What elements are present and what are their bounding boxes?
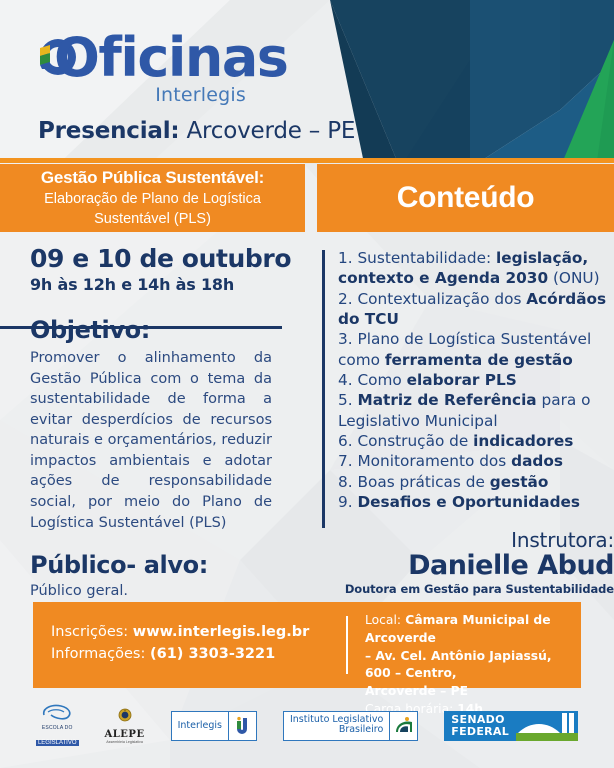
topic-number: 7. [338, 452, 353, 470]
topic-number: 9. [338, 493, 353, 511]
ilb-line2: Brasileiro [290, 725, 383, 735]
course-date: 09 e 10 de outubro [30, 244, 300, 273]
alepe-name: ALEPE [105, 729, 145, 740]
topic-text-tail: (ONU) [548, 269, 599, 287]
topic-emphasis: Matriz de Referência [357, 391, 536, 409]
interlegis-glyph [228, 712, 256, 740]
ilb-glyph [389, 712, 417, 740]
left-column: 09 e 10 de outubro 9h às 12h e 14h às 18… [0, 244, 300, 599]
poster-root: Oficinas Interlegis Presencial: Arcoverd… [0, 0, 614, 768]
local-line3: Arcoverde – PE [365, 684, 468, 698]
presencial-label: Presencial: [38, 118, 179, 144]
ilb-dome-icon [394, 716, 414, 736]
local-label: Local: [365, 613, 401, 627]
senado-box: SENADO FEDERAL [444, 711, 578, 741]
topic-number: 1. [338, 249, 353, 267]
topic-item: 3. Plano de Logística Sustentável como f… [338, 329, 614, 370]
instructor-name: Danielle Abud [322, 550, 614, 581]
right-column: 1. Sustentabilidade: legislação, context… [322, 248, 614, 512]
logo-wordmark: Oficinas [38, 30, 298, 88]
interlegis-label: Interlegis [172, 712, 228, 740]
conteudo-label: Conteúdo [397, 181, 535, 215]
venue-row1: Local: Câmara Municipal de Arcoverde [365, 612, 581, 648]
topic-number: 3. [338, 330, 353, 348]
topic-text: Monitoramento dos [353, 452, 512, 470]
audience-text: Público geral. [30, 583, 300, 599]
topic-emphasis: Desafios e Oportunidades [357, 493, 580, 511]
senado-congress-icon [516, 711, 578, 741]
ilb-label: Instituto Legislativo Brasileiro [284, 712, 389, 740]
objective-text: Promover o alinhamento da Gestão Pública… [30, 348, 272, 533]
escola-swoosh-icon [40, 703, 74, 720]
instructor-credential: Doutora em Gestão para Sustentabilidade [322, 582, 614, 596]
senado-label: SENADO FEDERAL [444, 711, 516, 741]
topic-number: 2. [338, 290, 353, 308]
instructor-label: Instrutora: [322, 528, 614, 552]
senado-line2: FEDERAL [451, 726, 509, 738]
course-hours: 9h às 12h e 14h às 18h [30, 275, 300, 294]
informacoes-phone: (61) 3303-3221 [150, 646, 275, 662]
topic-emphasis: gestão [490, 473, 549, 491]
alepe-subtitle: Assembleia Legislativa [105, 740, 145, 744]
congress-building-icon [516, 711, 578, 741]
section-divider [0, 326, 282, 329]
logo-alepe: ALEPE Assembleia Legislativa [105, 708, 145, 744]
instructor-block: Instrutora: Danielle Abud Doutora em Ges… [322, 528, 614, 596]
topic-text: Sustentabilidade: [353, 249, 496, 267]
topic-emphasis: elaborar PLS [407, 371, 517, 389]
partner-logo-strip: ESCOLA DO LEGISLATIVO ALEPE Assembleia L… [0, 698, 614, 754]
topic-number: 6. [338, 432, 353, 450]
topic-number: 5. [338, 391, 353, 409]
topic-emphasis: dados [511, 452, 563, 470]
conteudo-bar: Conteúdo [317, 164, 614, 232]
alepe-crest-icon [118, 708, 132, 724]
inscricoes-label: Inscrições: [51, 624, 133, 640]
footer-inscricoes-row: Inscrições: www.interlegis.leg.br [51, 622, 309, 644]
topic-number: 8. [338, 473, 353, 491]
topic-item: 2. Contextualização dos Acórdãos do TCU [338, 289, 614, 330]
logo-interlegis: Interlegis [171, 711, 257, 741]
presencial-line: Presencial: Arcoverde – PE [38, 118, 355, 144]
topic-emphasis: indicadores [473, 432, 573, 450]
topic-item: 5. Matriz de Referência para o Legislati… [338, 390, 614, 431]
logo-text: Oficinas [54, 26, 287, 89]
interlegis-j-icon [234, 716, 250, 736]
topic-item: 8. Boas práticas de gestão [338, 472, 614, 492]
footer-informacoes-row: Informações: (61) 3303-3221 [51, 644, 309, 666]
topics-accent-line [322, 250, 325, 528]
topic-item: 1. Sustentabilidade: legislação, context… [338, 248, 614, 289]
escola-caption-1: ESCOLA DO [36, 725, 79, 731]
objective-heading: Objetivo: [30, 316, 300, 344]
topic-number: 4. [338, 371, 353, 389]
topic-text: Boas práticas de [353, 473, 490, 491]
oficinas-logo: Oficinas Interlegis [38, 30, 298, 88]
informacoes-label: Informações: [51, 646, 150, 662]
course-title-line1: Gestão Pública Sustentável: [41, 168, 264, 188]
inscricoes-url[interactable]: www.interlegis.leg.br [133, 624, 310, 640]
course-title-line2: Elaboração de Plano de Logística [44, 190, 261, 208]
footer-bar: Inscrições: www.interlegis.leg.br Inform… [33, 602, 581, 688]
topic-text: Como [353, 371, 407, 389]
course-title-line3: Sustentável (PLS) [94, 210, 211, 228]
audience-heading: Público- alvo: [30, 551, 300, 579]
topic-text: Contextualização dos [353, 290, 527, 308]
topic-emphasis: ferramenta de gestão [385, 351, 573, 369]
course-title-bar: Gestão Pública Sustentável: Elaboração d… [0, 164, 305, 232]
logo-subtitle: Interlegis [155, 84, 246, 106]
topics-list: 1. Sustentabilidade: legislação, context… [338, 248, 614, 512]
interlegis-box: Interlegis [171, 711, 257, 741]
topic-item: 4. Como elaborar PLS [338, 370, 614, 390]
footer-divider [346, 616, 348, 674]
logo-escola-do-legislativo: ESCOLA DO LEGISLATIVO [36, 703, 79, 749]
logo-instituto-legislativo-brasileiro: Instituto Legislativo Brasileiro [283, 711, 418, 741]
topic-item: 9. Desafios e Oportunidades [338, 492, 614, 512]
local-line2: – Av. Cel. Antônio Japiassú, 600 – Centr… [365, 649, 552, 681]
topic-text: Construção de [353, 432, 474, 450]
ilb-box: Instituto Legislativo Brasileiro [283, 711, 418, 741]
topic-item: 6. Construção de indicadores [338, 431, 614, 451]
venue-row2: – Av. Cel. Antônio Japiassú, 600 – Centr… [365, 648, 581, 684]
logo-senado-federal: SENADO FEDERAL [444, 711, 578, 741]
footer-contact: Inscrições: www.interlegis.leg.br Inform… [51, 622, 309, 666]
topic-item: 7. Monitoramento dos dados [338, 451, 614, 471]
presencial-value: Arcoverde – PE [179, 118, 355, 144]
escola-caption-2: LEGISLATIVO [36, 740, 79, 746]
